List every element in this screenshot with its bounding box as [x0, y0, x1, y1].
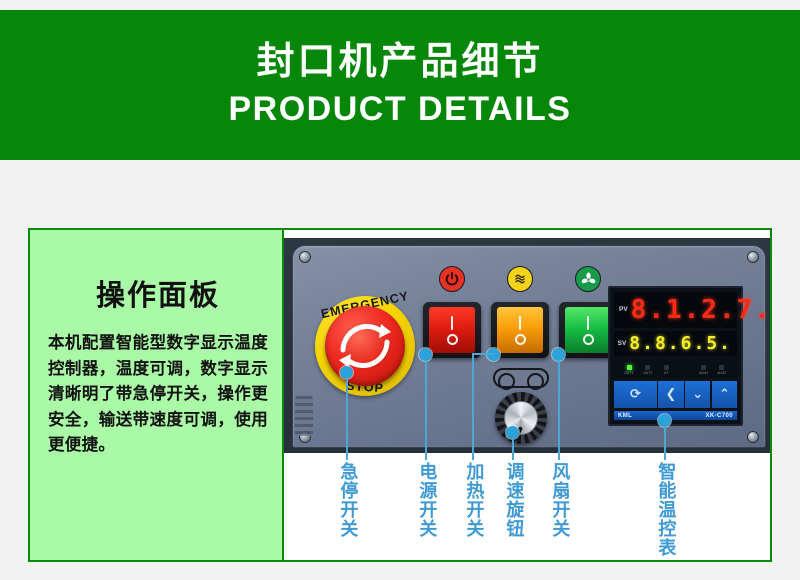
screw-icon — [747, 251, 759, 263]
emergency-stop-button[interactable]: EMERGENCY STOP — [315, 296, 415, 396]
sv-label: SV — [618, 340, 627, 347]
page-header-banner: 封口机产品细节 PRODUCT DETAILS — [0, 10, 800, 160]
sv-display: SV 8.8.6.5. — [614, 331, 737, 356]
switch-off-mark — [515, 334, 526, 345]
power-switch-face[interactable] — [429, 307, 475, 353]
switch-on-mark — [519, 316, 522, 330]
up-button[interactable]: ⌃ — [712, 381, 737, 408]
switch-off-mark — [583, 334, 594, 345]
indicator-alm2: ALM2 — [713, 365, 732, 375]
callout-label: 加热开关 — [464, 462, 482, 538]
rotate-arrows-icon — [325, 306, 405, 386]
indicator-out1: OUT1 — [620, 365, 639, 375]
fan-switch-face[interactable] — [565, 307, 611, 353]
indicator-at: AT — [657, 365, 676, 375]
led-icon — [719, 365, 724, 370]
callout-label: 电源开关 — [417, 462, 435, 538]
indicator-label: OUT2 — [643, 371, 652, 375]
led-icon — [645, 365, 650, 370]
speed-scale-plate — [493, 368, 549, 388]
callout-line — [472, 354, 474, 460]
callout-label: 急停开关 — [338, 462, 356, 538]
pv-display: PV 8.1.2.7. ℃ — [614, 292, 737, 328]
callout-line — [346, 378, 348, 460]
emergency-stop-mushroom[interactable] — [325, 306, 405, 386]
led-icon — [627, 365, 632, 370]
indicator-label: ALM2 — [717, 371, 726, 375]
description-panel: 操作面板 本机配置智能型数字显示温度控制器，温度可调，数字显示清晰明了带急停开关… — [30, 230, 284, 560]
power-icon — [439, 266, 465, 292]
model-number: XK-C700 — [706, 413, 733, 419]
led-icon — [664, 365, 669, 370]
switch-on-mark — [451, 316, 454, 330]
controller-brand-row: KML XK-C700 — [614, 411, 737, 420]
pv-label: PV — [619, 306, 628, 313]
banner-title-en: PRODUCT DETAILS — [229, 90, 572, 129]
set-button[interactable]: ⟳ — [614, 381, 657, 408]
callout-line — [425, 360, 427, 460]
indicator-alm1: ALM1 — [694, 365, 713, 375]
callout-label: 风扇开关 — [550, 462, 568, 538]
indicator-label: OUT1 — [625, 371, 634, 375]
callout-label: 调速旋钮 — [504, 462, 522, 538]
panel-bezel: EMERGENCY STOP — [292, 245, 766, 448]
panel-title: 操作面板 — [48, 272, 268, 314]
indicator-label: AT — [664, 371, 668, 375]
temperature-controller[interactable]: PV 8.1.2.7. ℃ SV 8.8.6.5. OUT1 — [608, 286, 743, 426]
fan-icon — [575, 266, 601, 292]
callout-line-elbow — [472, 353, 494, 355]
switch-off-mark — [447, 334, 458, 345]
product-photo-area: EMERGENCY STOP — [284, 230, 770, 560]
callout-line — [664, 426, 666, 460]
callout-label: 智能温控表 — [656, 462, 674, 557]
screw-icon — [747, 431, 759, 443]
heat-icon — [507, 266, 533, 292]
panel-description-text: 本机配置智能型数字显示温度控制器，温度可调，数字显示清晰明了带急停开关，操作更安… — [48, 330, 268, 458]
controller-button-row: ⟳ ❮ ⌄ ⌃ — [614, 381, 737, 408]
heat-switch-face[interactable] — [497, 307, 543, 353]
indicator-out2: OUT2 — [639, 365, 658, 375]
vent-grille — [295, 396, 313, 436]
indicator-label: ALM1 — [699, 371, 708, 375]
banner-title-cn: 封口机产品细节 — [256, 41, 543, 83]
down-button[interactable]: ⌄ — [685, 381, 710, 408]
left-button[interactable]: ❮ — [658, 381, 683, 408]
brand-name: KML — [618, 413, 632, 419]
content-frame: 操作面板 本机配置智能型数字显示温度控制器，温度可调，数字显示清晰明了带急停开关… — [28, 228, 772, 562]
speed-knob[interactable] — [495, 392, 547, 444]
pv-value: 8.1.2.7. — [631, 295, 770, 325]
heat-switch[interactable] — [491, 302, 549, 358]
machine-control-panel: EMERGENCY STOP — [284, 238, 770, 453]
indicator-led-row: OUT1 OUT2 AT ALM1 — [614, 359, 737, 378]
led-icon — [701, 365, 706, 370]
screw-icon — [299, 251, 311, 263]
power-switch[interactable] — [423, 302, 481, 358]
callout-line — [558, 360, 560, 460]
callout-line — [512, 438, 514, 460]
sv-value: 8.8.6.5. — [629, 333, 732, 354]
switch-on-mark — [587, 316, 590, 330]
